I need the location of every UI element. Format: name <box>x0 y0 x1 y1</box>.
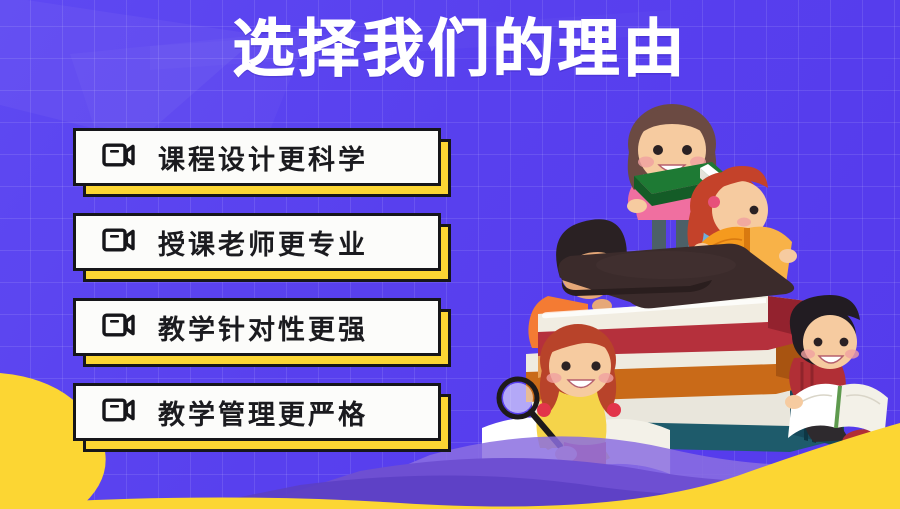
page-title: 选择我们的理由 <box>0 16 900 81</box>
feature-card-2[interactable]: 授课老师更专业 <box>73 213 441 271</box>
list-item[interactable]: 教学针对性更强 <box>73 298 451 360</box>
children-reading-illustration <box>486 110 900 455</box>
video-camera-icon <box>102 397 136 428</box>
promo-poster: 选择我们的理由 课程设计更科学 <box>0 0 900 509</box>
feature-card-3[interactable]: 教学针对性更强 <box>73 298 441 356</box>
feature-label: 课程设计更科学 <box>158 138 368 177</box>
feature-list: 课程设计更科学 授课老师更专业 <box>73 128 451 468</box>
video-camera-icon <box>102 142 136 173</box>
feature-label: 授课老师更专业 <box>158 223 368 262</box>
feature-label: 教学针对性更强 <box>158 308 368 347</box>
feature-card-1[interactable]: 课程设计更科学 <box>73 128 441 186</box>
feature-card-4[interactable]: 教学管理更严格 <box>73 383 441 441</box>
video-camera-icon <box>102 312 136 343</box>
video-camera-icon <box>102 227 136 258</box>
list-item[interactable]: 授课老师更专业 <box>73 213 451 275</box>
list-item[interactable]: 课程设计更科学 <box>73 128 451 190</box>
feature-label: 教学管理更严格 <box>158 393 368 432</box>
list-item[interactable]: 教学管理更严格 <box>73 383 451 445</box>
